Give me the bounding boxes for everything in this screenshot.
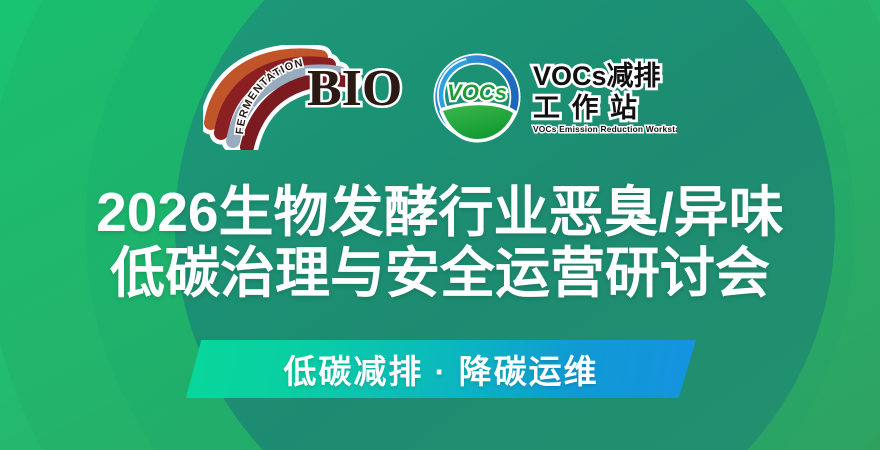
slogan-ribbon: 低碳减排 · 降碳运维 — [0, 340, 880, 410]
bio-wordmark: BIO — [307, 60, 402, 117]
vocs-workstation-logo: VOCs VOCs减排 工 作 站 VOCs Emission Reductio… — [427, 45, 677, 150]
bio-fermentation-logo: FERMENTATION BIO — [203, 45, 403, 150]
logo-row: FERMENTATION BIO — [0, 42, 880, 152]
vocs-mark-text: VOCs — [447, 80, 507, 105]
title-line-2: 低碳治理与安全运营研讨会 — [0, 243, 880, 304]
vocs-title-line2: 工 作 站 — [533, 93, 639, 123]
vocs-subtitle-en: VOCs Emission Reduction Workstation — [533, 124, 677, 134]
poster-title: 2026生物发酵行业恶臭/异味 低碳治理与安全运营研讨会 — [0, 182, 880, 304]
vocs-title-line1: VOCs减排 — [533, 61, 661, 91]
title-line-1: 2026生物发酵行业恶臭/异味 — [0, 182, 880, 243]
ribbon-label: 低碳减排 · 降碳运维 — [186, 340, 696, 398]
conference-poster: FERMENTATION BIO — [0, 0, 880, 450]
